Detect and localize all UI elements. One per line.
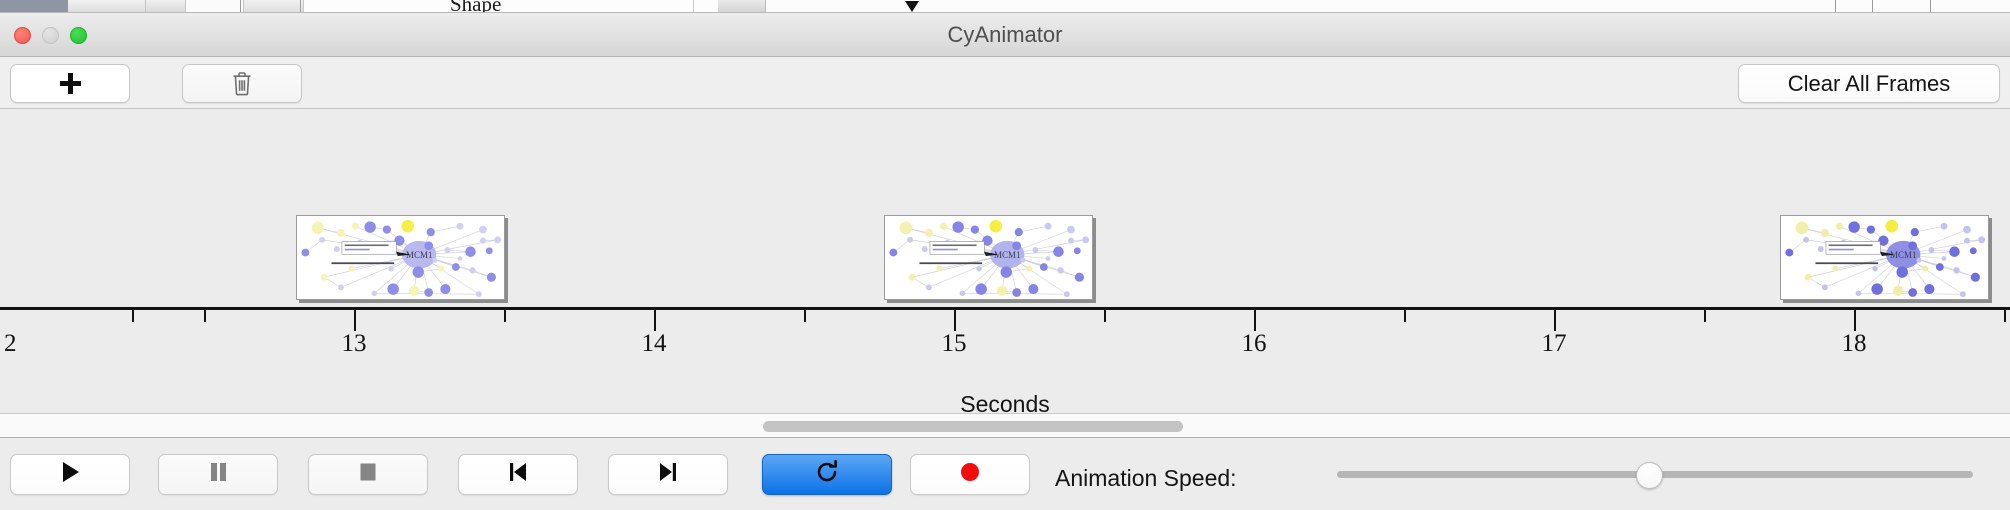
bg-tick [1835, 0, 1836, 13]
timeline-frame[interactable]: MCM1 [884, 215, 1093, 300]
axis-tick-major [1254, 310, 1256, 331]
trash-icon [231, 71, 253, 96]
axis-tick-label: 18 [1842, 330, 1867, 358]
bg-chunk-1 [68, 0, 146, 13]
axis-tick-minor [1704, 310, 1706, 322]
timeline-panel[interactable]: MCM1MCM1MCM1 1314151617182 Seconds [0, 109, 2010, 414]
clear-all-frames-button[interactable]: Clear All Frames [1738, 64, 2000, 103]
plus-icon [60, 73, 81, 94]
bg-cursor-arrow-icon [905, 1, 919, 12]
stop-icon [355, 459, 381, 490]
axis-tick-minor [132, 310, 134, 322]
axis-tick-minor [804, 310, 806, 322]
timeline-frame[interactable]: MCM1 [296, 215, 505, 300]
bg-chunk-8 [766, 0, 1816, 13]
clear-all-frames-label: Clear All Frames [1788, 71, 1951, 97]
frame-thumbnail-graph: MCM1 [1781, 216, 1989, 300]
axis-tick-label: 13 [342, 330, 367, 358]
skip-to-start-button[interactable] [458, 454, 578, 495]
play-button[interactable] [10, 454, 130, 495]
record-button[interactable] [910, 454, 1030, 495]
play-icon [57, 459, 83, 490]
axis-tick-major [1854, 310, 1856, 331]
toolbar: Clear All Frames [0, 57, 2010, 109]
timeline-axis-line [0, 307, 2010, 310]
bg-chunk-2 [146, 0, 186, 13]
axis-tick-label: 14 [642, 330, 667, 358]
bg-tick [1872, 0, 1873, 13]
add-frame-button[interactable] [10, 64, 130, 103]
bg-tick [240, 0, 241, 13]
pause-icon [205, 459, 231, 490]
axis-tick-minor [204, 310, 206, 322]
axis-tick-minor [2004, 310, 2006, 322]
background-window-label: Shape [450, 0, 501, 13]
svg-text:MCM1: MCM1 [1890, 250, 1917, 260]
axis-tick-minor [1104, 310, 1106, 322]
bg-chunk-9 [1816, 0, 2010, 13]
bg-tick [1930, 0, 1931, 13]
axis-tick-minor [1404, 310, 1406, 322]
record-icon [957, 459, 983, 490]
bg-chunk-6 [694, 0, 718, 13]
title-bar: CyAnimator [0, 13, 2010, 57]
bg-tick [300, 0, 301, 13]
loop-button[interactable] [762, 454, 892, 495]
svg-text:MCM1: MCM1 [406, 250, 433, 260]
delete-frame-button[interactable] [182, 64, 302, 103]
bg-chunk-7 [718, 0, 766, 13]
axis-tick-label: 15 [942, 330, 967, 358]
scrollbar-thumb[interactable] [763, 421, 1183, 432]
frame-thumbnail-graph: MCM1 [297, 216, 505, 300]
cyanimator-window: Shape CyAnimator Clear All Fram [0, 0, 2010, 510]
axis-title: Seconds [0, 391, 2010, 414]
svg-text:MCM1: MCM1 [994, 250, 1021, 260]
pause-button[interactable] [158, 454, 278, 495]
timeline-scrollbar[interactable] [0, 414, 2010, 438]
timeline-frame[interactable]: MCM1 [1780, 215, 1989, 300]
skip-forward-icon [655, 459, 681, 490]
axis-tick-major [1554, 310, 1556, 331]
animation-speed-label: Animation Speed: [1055, 465, 1237, 492]
axis-tick-major [654, 310, 656, 331]
bg-chunk-4 [244, 0, 304, 13]
stop-button[interactable] [308, 454, 428, 495]
playback-controls: Animation Speed: [0, 439, 2010, 510]
bg-chunk-3 [186, 0, 244, 13]
window-title: CyAnimator [0, 13, 2010, 57]
axis-tick-major [354, 310, 356, 331]
axis-tick-minor [504, 310, 506, 322]
skip-back-icon [505, 459, 531, 490]
background-window-strip: Shape [0, 0, 2010, 13]
axis-tick-major [954, 310, 956, 331]
frame-thumbnail-graph: MCM1 [885, 216, 1093, 300]
axis-tick-label: 16 [1242, 330, 1267, 358]
axis-tick-label: 17 [1542, 330, 1567, 358]
animation-speed-slider-thumb[interactable] [1636, 462, 1663, 489]
loop-icon [813, 458, 841, 491]
axis-tick-label-edge: 2 [4, 330, 17, 358]
bg-chunk-dark [0, 0, 68, 13]
skip-to-end-button[interactable] [608, 454, 728, 495]
